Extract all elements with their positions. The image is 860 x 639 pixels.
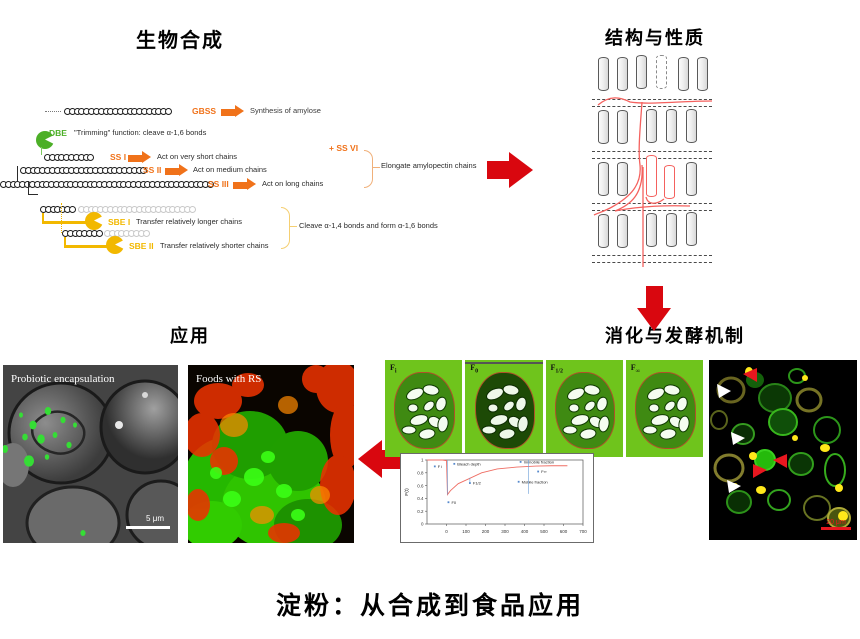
svg-text:0: 0 [421,522,424,527]
action-ss3: Act on long chains [262,179,323,188]
micrograph-label-probiotic: Probiotic encapsulation [11,373,115,385]
medium-chain [20,166,145,174]
brace-sbe-line [289,226,297,227]
ss1-arrow-icon [128,151,152,164]
micrograph-foods-with-rs: Foods with RS [188,365,354,543]
enzyme-label-ssvi: + SS VI [329,143,358,153]
granule-panel: Fi [385,360,462,457]
enzyme-label-gbss: GBSS [192,106,216,116]
granule-label: F1/2 [551,363,564,375]
enzyme-label-ss2: SS II [143,165,161,175]
svg-text:0.8: 0.8 [417,471,424,476]
svg-text:1: 1 [421,458,424,463]
flow-arrow-right-icon [487,152,533,188]
svg-text:F∞: F∞ [541,469,546,474]
branched-chain-2 [62,229,101,237]
micrograph-probiotic-encapsulation: Probiotic encapsulation 5 μm [3,365,178,543]
branch-point-marker [61,203,62,233]
gbss-arrow-icon [221,105,245,118]
chain-connector [28,181,29,195]
micrograph-label-foods: Foods with RS [196,373,261,385]
svg-text:0.4: 0.4 [417,496,424,501]
action-sbe1: Transfer relatively longer chains [136,217,242,226]
svg-text:0.6: 0.6 [417,483,424,488]
granule-panel: F∞ [626,360,703,457]
action-ss2: Act on medium chains [193,165,267,174]
svg-text:200: 200 [482,529,490,534]
starch-lamellae-diagram [590,55,760,280]
svg-text:Mobile fraction: Mobile fraction [522,479,548,484]
frap-granule-panels: Fi F0 [385,360,703,457]
frap-chart-svg: 010020030040050060070000.20.40.60.81F(t)… [401,454,591,540]
brace-ss [364,150,373,188]
page-title: 淀粉：从合成到食品应用 [130,586,730,622]
svg-text:600: 600 [560,529,568,534]
enzyme-label-sbe2: SBE II [129,241,154,251]
amylose-chain [64,107,170,115]
svg-text:100: 100 [462,529,470,534]
dbe-connector [41,147,42,155]
granule-label: Fi [390,363,397,375]
sbe1-enzyme-icon [85,212,103,230]
ss2-arrow-icon [165,164,189,177]
svg-text:F0: F0 [451,500,456,505]
svg-text:700: 700 [579,529,587,534]
enzyme-label-ss1: SS I [110,152,126,162]
scale-bar-confocal: 20 μm [821,518,851,530]
frap-recovery-chart: 010020030040050060070000.20.40.60.81F(t)… [400,453,594,543]
action-ss1: Act on very short chains [157,152,237,161]
svg-text:F1/2: F1/2 [473,481,482,486]
sbe2-enzyme-icon [106,236,124,254]
svg-text:Bleach depth: Bleach depth [457,461,480,466]
scale-bar-label-confocal: 20 μm [821,518,851,527]
brace-ss-line [372,167,380,168]
ss3-arrow-icon [233,178,257,191]
action-dbe: "Trimming" function: cleave α-1,6 bonds [74,128,206,137]
enzyme-label-sbe1: SBE I [108,217,130,227]
granule-panel: F0 [465,360,542,457]
enzyme-label-dbe: DBE [49,128,67,138]
amylopectin-backbone [590,55,760,280]
micrograph-confocal-fermentation: 20 μm [709,360,857,540]
branched-chain-1 [40,205,74,213]
chain-connector [28,194,38,195]
brace-sbe [281,207,290,249]
chain-connector [17,166,18,182]
svg-text:300: 300 [501,529,509,534]
svg-text:0.2: 0.2 [417,509,424,514]
section-heading-application: 应用 [110,322,270,348]
scale-bar-label-probiotic: 5 μm [146,514,164,523]
section-heading-biosynthesis: 生物合成 [80,24,280,53]
granule-label: F0 [470,363,478,375]
svg-text:500: 500 [540,529,548,534]
short-chain [44,153,92,161]
brace-label-cleave: Cleave α-1,4 bonds and form α-1,6 bonds [299,221,438,230]
svg-text:400: 400 [521,529,529,534]
biosynthesis-diagram: GBSS Synthesis of amylose DBE "Trimming"… [0,95,480,265]
sbe1-connector [42,221,90,224]
long-chain [0,180,212,188]
scale-bar-probiotic [126,526,170,529]
svg-text:F(t): F(t) [404,488,410,496]
svg-text:0: 0 [445,529,448,534]
enzyme-label-ss3: SS III [208,179,229,189]
amylose-chain-lead [45,111,61,113]
granule-panel: F1/2 [546,360,623,457]
brace-label-elongate: Elongate amylopectin chains [381,161,476,170]
sbe2-connector [64,245,110,248]
svg-text:F i: F i [438,464,443,469]
action-gbss: Synthesis of amylose [250,106,321,115]
section-heading-digestion: 消化与发酵机制 [565,322,785,348]
section-heading-structure: 结构与性质 [575,24,735,50]
flow-arrow-down-icon [637,286,671,330]
action-sbe2: Transfer relatively shorter chains [160,241,269,250]
granule-label: F∞ [631,363,640,375]
